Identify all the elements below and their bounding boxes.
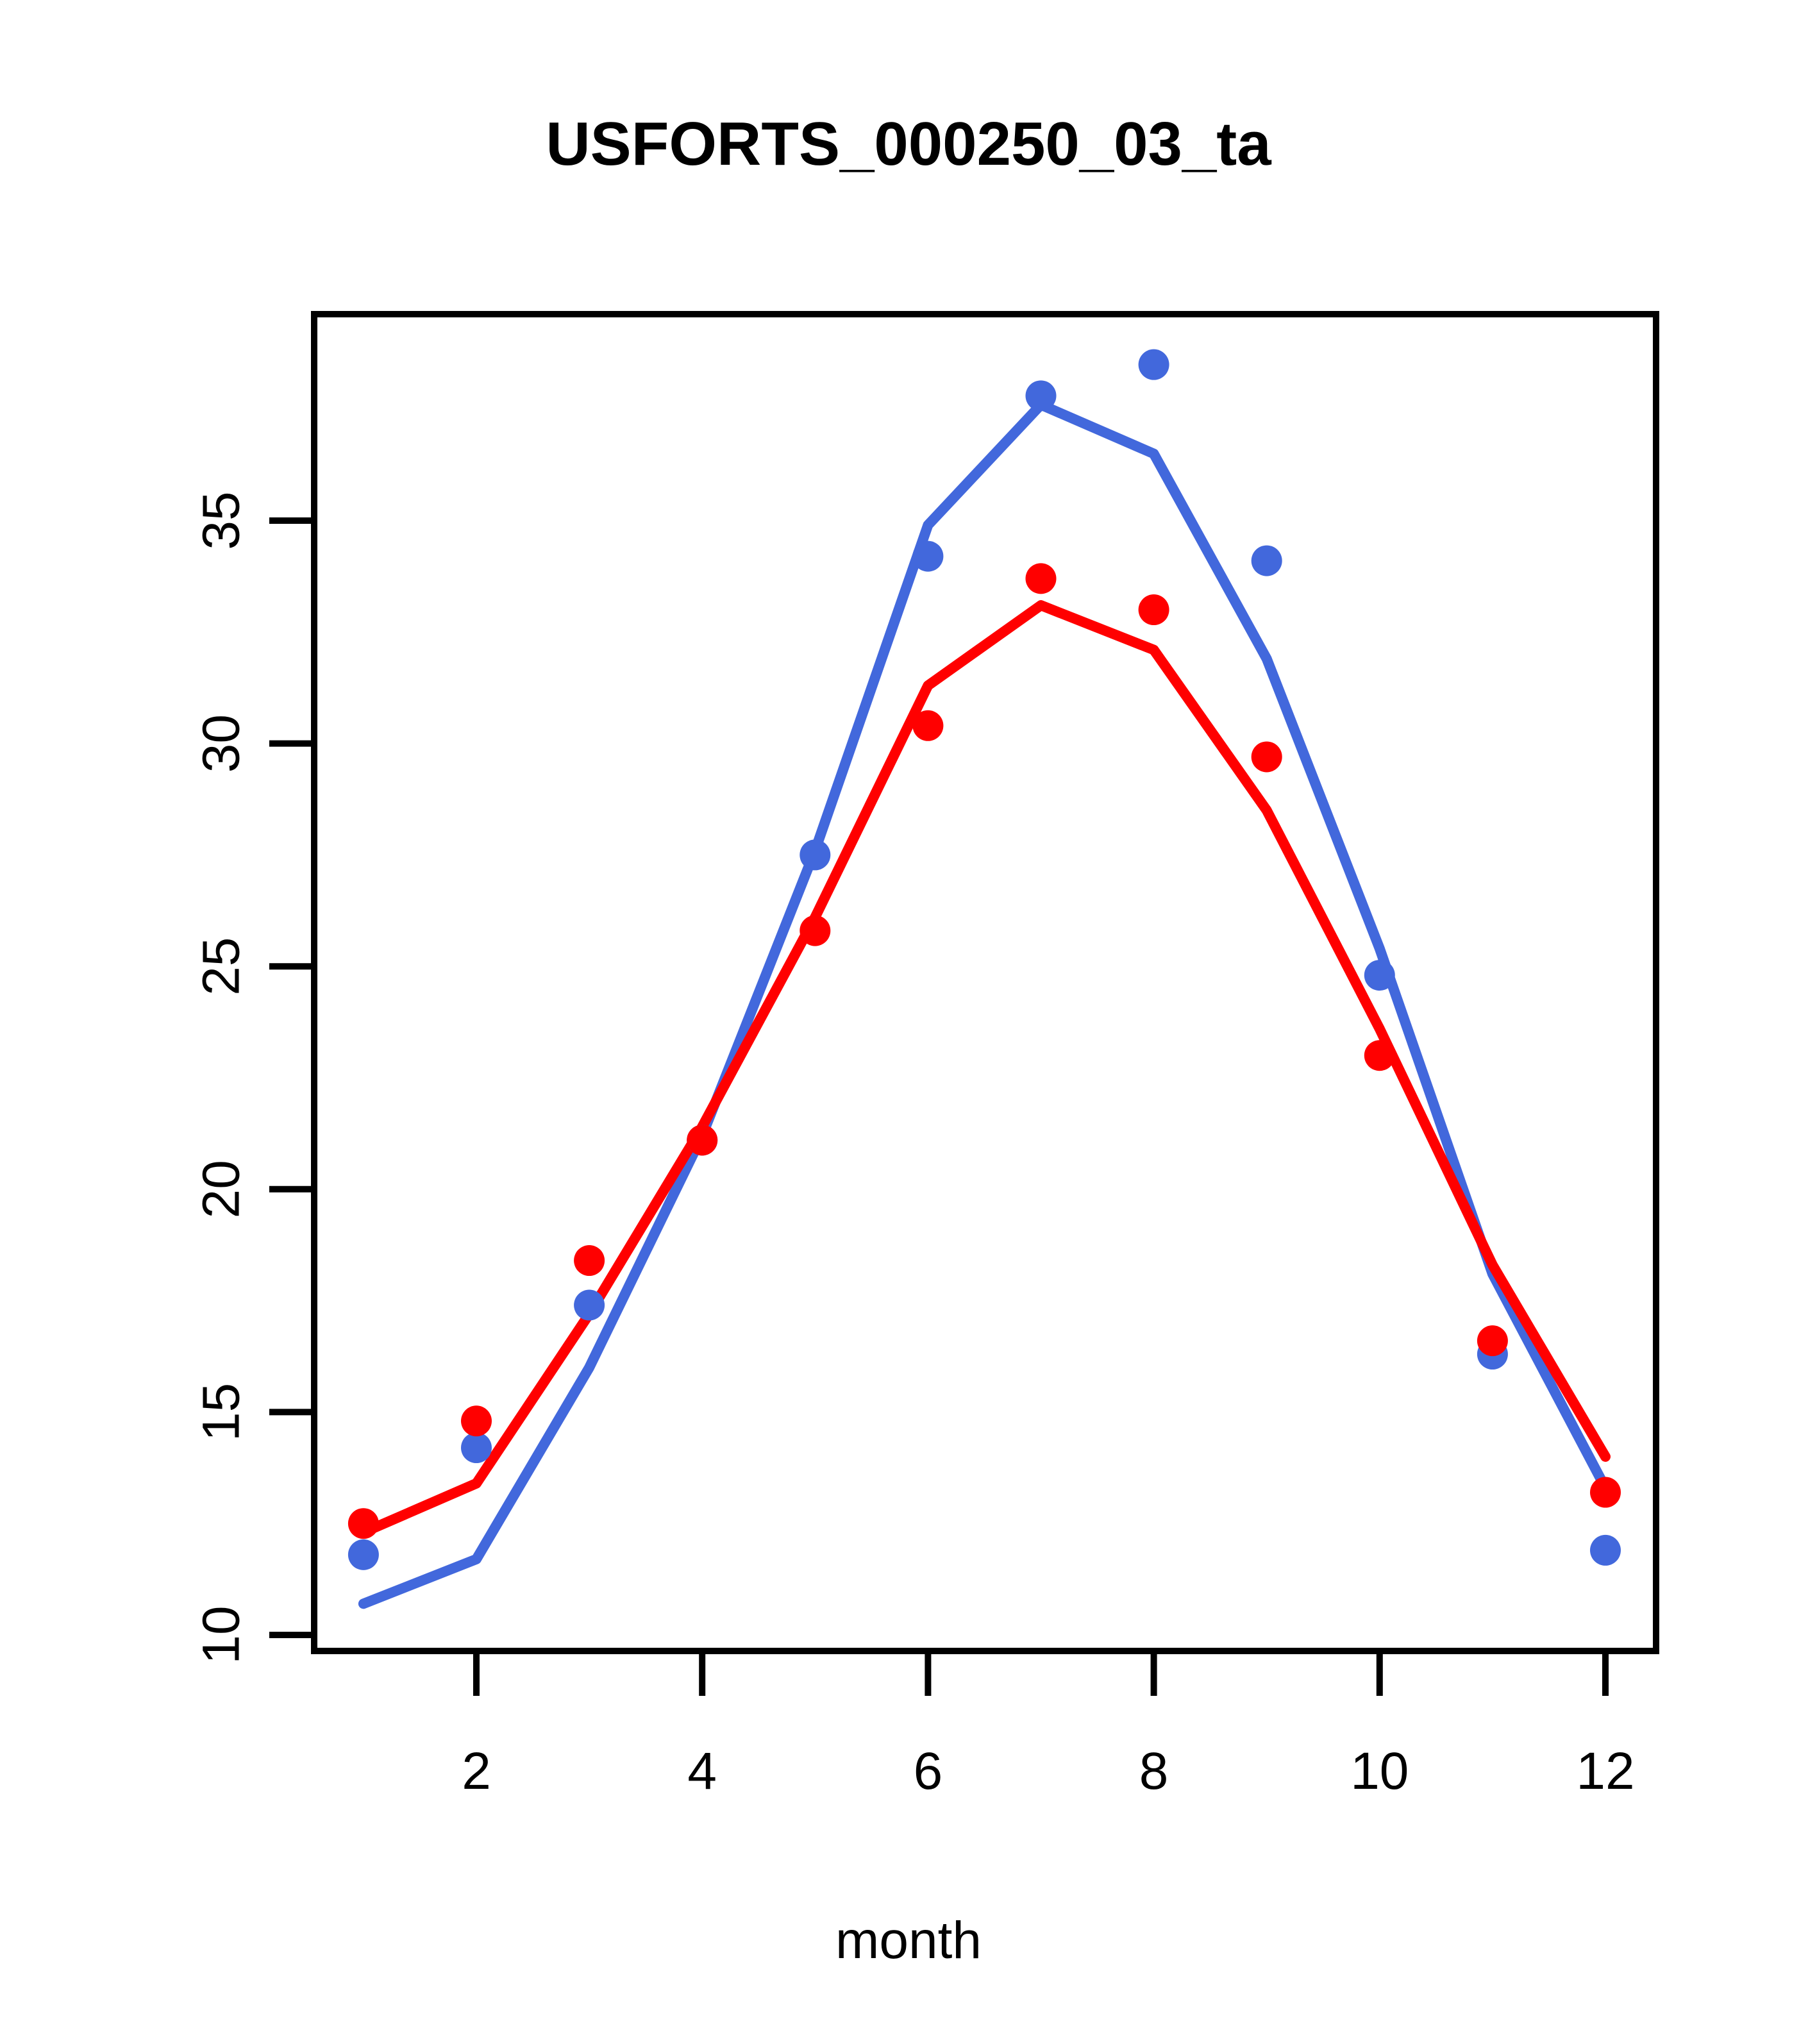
plot-area: 101520253035 24681012 (0, 0, 1817, 2044)
data-point-red (348, 1508, 379, 1539)
data-point-blue (574, 1290, 605, 1321)
data-point-red (1590, 1477, 1621, 1508)
data-point-red (800, 916, 830, 946)
x-axis: 24681012 (462, 1651, 1634, 1800)
data-point-red (1026, 563, 1057, 594)
y-axis-tick-label: 20 (192, 1160, 251, 1218)
chart-figure: USFORTS_000250_03_ta 101520253035 246810… (0, 0, 1817, 2044)
x-axis-tick-label: 12 (1576, 1742, 1634, 1800)
y-axis-tick-label: 15 (192, 1383, 251, 1441)
data-point-red (461, 1405, 492, 1436)
data-series-group (348, 349, 1621, 1604)
x-axis-tick-label: 8 (1139, 1742, 1169, 1800)
y-axis-tick-label: 35 (192, 491, 251, 549)
data-point-red (574, 1245, 605, 1276)
data-point-red (912, 710, 943, 741)
data-point-blue (1026, 380, 1057, 411)
data-point-red (687, 1125, 717, 1155)
y-axis: 101520253035 (192, 491, 315, 1664)
data-point-blue (1139, 349, 1169, 380)
data-point-blue (1590, 1535, 1621, 1566)
data-point-blue (348, 1539, 379, 1570)
y-axis-tick-label: 10 (192, 1605, 251, 1664)
x-axis-tick-label: 2 (462, 1742, 491, 1800)
data-point-blue (461, 1432, 492, 1463)
data-point-blue (1252, 546, 1282, 576)
series-line-blue (364, 405, 1605, 1604)
x-axis-tick-label: 4 (687, 1742, 717, 1800)
data-point-red (1364, 1040, 1395, 1071)
y-axis-tick-label: 25 (192, 937, 251, 996)
data-point-red (1139, 594, 1169, 625)
data-point-red (1477, 1325, 1508, 1356)
data-point-red (1252, 741, 1282, 772)
x-axis-tick-label: 6 (914, 1742, 943, 1800)
data-point-blue (1364, 960, 1395, 991)
plot-frame (314, 314, 1656, 1651)
x-axis-tick-label: 10 (1350, 1742, 1409, 1800)
data-point-blue (800, 839, 830, 870)
data-point-blue (912, 541, 943, 572)
x-axis-label: month (0, 1911, 1817, 1971)
y-axis-tick-label: 30 (192, 714, 251, 773)
